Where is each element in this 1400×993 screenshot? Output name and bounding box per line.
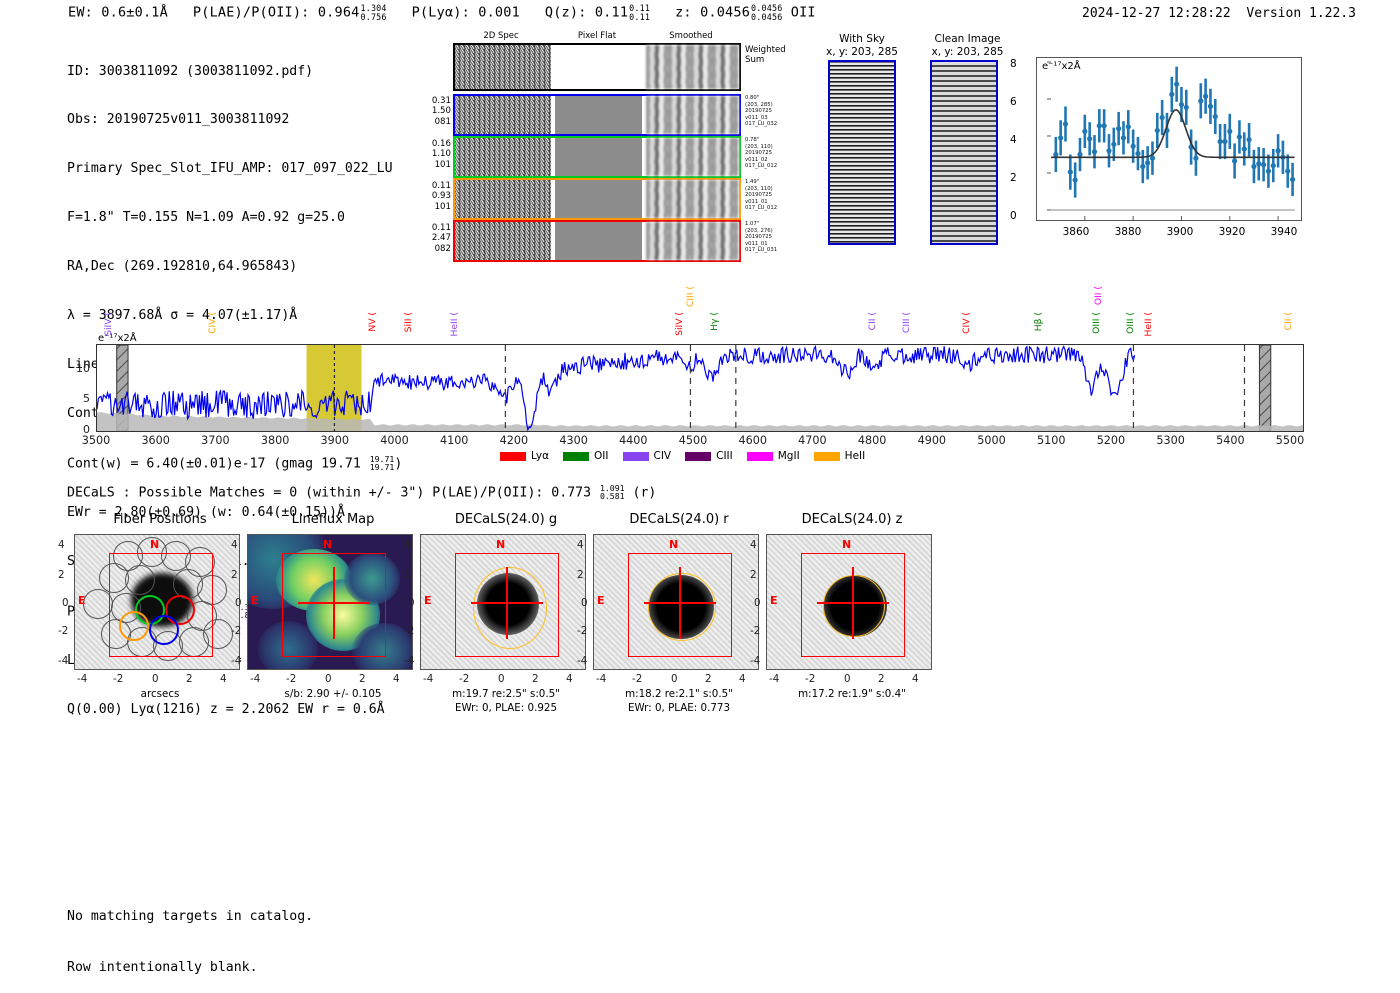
emission-line-label: Hγ (	[709, 312, 720, 331]
legend-swatch	[623, 452, 649, 461]
center-crosshair-v	[333, 567, 335, 639]
panel-title: Lineflux Map	[233, 512, 433, 527]
emission-line-label: CIV (	[207, 312, 218, 334]
spectrum-xtick: 5400	[1208, 434, 1252, 447]
column-title-pixelflat: Pixel Flat	[553, 31, 641, 41]
panel-caption-1: m:19.7 re:2.5" s:0.5"	[406, 688, 606, 701]
weighted-sum-2dspec	[455, 45, 551, 89]
spectrum-xtick: 4600	[731, 434, 775, 447]
xtick: 0	[498, 673, 505, 685]
exposure-2-meta: 0.78" (203, 110) 20190725 v011_02 017_LU…	[745, 137, 789, 170]
summary-header-line: EW: 0.6±0.1Å P(LAE)/P(OII): 0.9641.3040.…	[68, 4, 816, 21]
ytick: 0	[581, 597, 588, 609]
decals-header: DECaLS : Possible Matches = 0 (within +/…	[67, 484, 656, 501]
emission-line-label: OII (	[1093, 286, 1104, 305]
header-plae-label: P(LAE)/P(OII):	[193, 5, 310, 21]
fitplot-xtick-3940: 3940	[1264, 226, 1304, 238]
ytick: 4	[577, 539, 584, 551]
exposure-1-pixelflat	[555, 96, 641, 134]
weighted-sum-smoothed	[646, 45, 739, 89]
decals-z-image[interactable]	[766, 534, 932, 670]
emission-line-label: HeII (	[449, 312, 460, 337]
spectrum-xtick: 3600	[134, 434, 178, 447]
panel-xlabel: arcsecs	[60, 688, 260, 701]
spectrum-xtick: 4900	[910, 434, 954, 447]
xtick: 0	[325, 673, 332, 685]
legend-item: CIV	[623, 450, 672, 462]
row-left-numbers: 0.31 1.50 081	[417, 96, 451, 127]
decals-g-image[interactable]	[420, 534, 586, 670]
ytick: 0	[754, 597, 761, 609]
info-line-fwhm: F=1.8" T=0.155 N=1.09 A=0.92 g=25.0	[67, 210, 402, 226]
shot-box	[109, 553, 213, 657]
xtick: -4	[423, 673, 433, 685]
spectrum-xtick: 3900	[313, 434, 357, 447]
info-contw-post: )	[394, 456, 402, 471]
emission-line-label: CIII (	[685, 286, 696, 307]
header-qz-label: Q(z):	[545, 5, 587, 21]
exposure-row-4	[453, 220, 741, 262]
ytick: 2	[404, 569, 411, 581]
legend-item: HeII	[814, 450, 866, 462]
xtick: 0	[152, 673, 159, 685]
spectrum-xtick: 3800	[253, 434, 297, 447]
legend-swatch	[814, 452, 840, 461]
ytick: -2	[404, 625, 414, 637]
legend-swatch	[563, 452, 589, 461]
row-left-numbers: 0.11 0.93 101	[417, 181, 451, 212]
spectrum-legend: LyαOIICIVCIIIMgIIHeII	[500, 450, 865, 462]
panel-lineflux-map: Lineflux Map N E 4 2 0 -2 -4 -4 -2 0 2 4…	[233, 512, 433, 712]
emission-line-label: Hβ (	[1033, 312, 1044, 331]
full-spectrum-plot	[96, 344, 1304, 432]
fitplot-xtick-3880: 3880	[1108, 226, 1148, 238]
ytick: 4	[231, 539, 238, 551]
xtick: -4	[250, 673, 260, 685]
legend-item: CIII	[685, 450, 733, 462]
ytick: 4	[404, 539, 411, 551]
info-contw-lo: 19.71	[370, 463, 395, 471]
info-line-primary: Primary Spec_Slot_IFU_AMP: 017_097_022_L…	[67, 161, 402, 177]
exposure-3-2dspec	[455, 180, 551, 218]
ytick: 4	[58, 539, 65, 551]
compass-north: N	[150, 538, 159, 551]
decals-header-lo: 0.581	[600, 492, 625, 500]
fitplot-xtick-3920: 3920	[1212, 226, 1252, 238]
header-z-species: OII	[791, 5, 816, 21]
spectrum-xtick: 4700	[790, 434, 834, 447]
exposure-4-meta: 1.07" (203, 276) 20190725 v011_01 017_LU…	[745, 221, 789, 254]
exposure-4-smoothed	[646, 222, 739, 260]
spectrum-xtick: 5500	[1268, 434, 1312, 447]
header-qz-value: 0.11	[595, 5, 628, 21]
xtick: -2	[805, 673, 815, 685]
header-qz-lo: 0.11	[629, 13, 650, 22]
emission-line-fit-plot: e⁻¹⁷x2Å	[1036, 57, 1302, 221]
xtick: 2	[359, 673, 366, 685]
ytick: -2	[750, 625, 760, 637]
xtick: -2	[286, 673, 296, 685]
info-line-id: ID: 3003811092 (3003811092.pdf)	[67, 64, 402, 80]
spectrum-xtick: 4800	[850, 434, 894, 447]
panel-title: DECaLS(24.0) r	[579, 512, 779, 527]
legend-item: Lyα	[500, 450, 549, 462]
legend-swatch	[685, 452, 711, 461]
legend-label: HeII	[845, 450, 866, 462]
emission-line-label: SiIV (	[103, 312, 114, 336]
exposure-4-2dspec	[455, 222, 551, 260]
info-line-obs: Obs: 20190725v011_3003811092	[67, 112, 402, 128]
xtick: -4	[769, 673, 779, 685]
row-left-numbers: 0.16 1.10 101	[417, 139, 451, 170]
panel-title: Fiber Positions	[60, 512, 260, 527]
header-z-lo: 0.0456	[751, 13, 782, 22]
legend-item: OII	[563, 450, 608, 462]
fitplot-ytick-8: 8	[1010, 58, 1017, 70]
spectrum-xtick: 3700	[193, 434, 237, 447]
xtick: 4	[739, 673, 746, 685]
compass-east: E	[251, 594, 259, 607]
ytick: 2	[58, 569, 65, 581]
fitplot-ytick-4: 4	[1010, 134, 1017, 146]
fitplot-ytick-6: 6	[1010, 96, 1017, 108]
ytick: 0	[408, 597, 415, 609]
legend-swatch	[747, 452, 773, 461]
header-plae-lo: 0.756	[360, 13, 386, 22]
fitplot-canvas	[1037, 58, 1301, 220]
two-d-spectrum-panel: 2D Spec Pixel Flat Smoothed Weighted Sum…	[425, 31, 790, 259]
xtick: 0	[671, 673, 678, 685]
xtick: -4	[596, 673, 606, 685]
header-meta: 2024-12-27 12:28:22 Version 1.22.3	[1082, 6, 1356, 21]
decals-header-pre: DECaLS : Possible Matches = 0 (within +/…	[67, 485, 599, 500]
xtick: 2	[878, 673, 885, 685]
spectrum-xtick: 4300	[552, 434, 596, 447]
spectrum-xtick: 3500	[74, 434, 118, 447]
emission-line-label: OIII (	[1091, 312, 1102, 334]
ytick: 0	[235, 597, 242, 609]
compass-north: N	[669, 538, 678, 551]
legend-label: OII	[594, 450, 608, 462]
exposure-3-meta: 1.49" (203, 110) 20190725 v011_01 017_LU…	[745, 179, 789, 212]
panel-title: DECaLS(24.0) z	[752, 512, 952, 527]
weighted-sum-pixelflat	[555, 45, 641, 89]
compass-east: E	[770, 594, 778, 607]
footer-note: No matching targets in catalog. Row inte…	[67, 874, 313, 993]
panel-caption-1: m:18.2 re:2.1" s:0.5"	[579, 688, 779, 701]
center-crosshair-v	[852, 567, 854, 639]
ytick: -2	[58, 625, 68, 637]
xtick: 4	[566, 673, 573, 685]
center-crosshair-v	[679, 567, 681, 639]
ytick: -4	[58, 655, 68, 667]
lineflux-map-image[interactable]	[247, 534, 413, 670]
exposure-4-pixelflat	[555, 222, 641, 260]
with-sky-title: With Sky x, y: 203, 285	[812, 33, 912, 58]
xtick: 4	[912, 673, 919, 685]
exposure-row-3	[453, 178, 741, 220]
exposure-row-2	[453, 136, 741, 178]
effective-radius-ellipse	[473, 567, 547, 649]
info-contw-pre: Cont(w) = 6.40(±0.01)e-17 (gmag 19.71	[67, 456, 369, 471]
spectrum-ytick: 5	[64, 392, 90, 405]
exposure-2-pixelflat	[555, 138, 641, 176]
emission-line-label: CIV (	[961, 312, 972, 334]
legend-label: MgII	[778, 450, 800, 462]
ytick: -4	[404, 655, 414, 667]
exposure-2-smoothed	[646, 138, 739, 176]
ytick: -2	[231, 625, 241, 637]
legend-label: Lyα	[531, 450, 549, 462]
legend-label: CIV	[654, 450, 672, 462]
panel-caption-2: EWr: 0, PLAE: 0.773	[579, 702, 779, 715]
clean-image-title: Clean Image x, y: 203, 285	[915, 33, 1020, 58]
emission-line-label: CII (	[867, 312, 878, 330]
emission-line-label: OIII (	[1125, 312, 1136, 334]
xtick: -2	[459, 673, 469, 685]
info-line-lambda: λ = 3897.68Å σ = 4.07(±1.17)Å	[67, 308, 402, 324]
row-left-numbers: 0.11 2.47 082	[417, 223, 451, 254]
footer-line-2: Row intentionally blank.	[67, 959, 313, 976]
emission-line-label: CII (	[1283, 312, 1294, 330]
spectrum-xtick: 4200	[492, 434, 536, 447]
panel-decals-g: DECaLS(24.0) g N E 4 2 0 -2 -4 -4 -2 0 2…	[406, 512, 606, 724]
decals-header-post: (r)	[625, 485, 657, 500]
exposure-row-1	[453, 94, 741, 136]
ytick: 4	[750, 539, 757, 551]
emission-line-label: SiIV (	[674, 312, 685, 336]
panel-decals-r: DECaLS(24.0) r N E 4 2 0 -2 -4 -4 -2 0 2…	[579, 512, 779, 724]
decals-r-image[interactable]	[593, 534, 759, 670]
xtick: 2	[532, 673, 539, 685]
xtick: 2	[705, 673, 712, 685]
compass-east: E	[424, 594, 432, 607]
panel-caption-1: m:17.2 re:1.9" s:0.4"	[752, 688, 952, 701]
compass-north: N	[323, 538, 332, 551]
column-title-smoothed: Smoothed	[643, 31, 739, 41]
header-ew: EW: 0.6±0.1Å	[68, 5, 168, 21]
fitplot-xtick-3860: 3860	[1056, 226, 1096, 238]
spectrum-xtick: 5300	[1149, 434, 1193, 447]
exposure-1-smoothed	[646, 96, 739, 134]
effective-radius-ellipse	[648, 573, 716, 641]
ytick: 2	[750, 569, 757, 581]
column-title-2dspec: 2D Spec	[453, 31, 549, 41]
spectrum-xtick: 4000	[373, 434, 417, 447]
header-datetime: 2024-12-27 12:28:22	[1082, 6, 1231, 21]
fitplot-ytick-2: 2	[1010, 172, 1017, 184]
spectrum-xtick: 5000	[970, 434, 1014, 447]
weighted-sum-label: Weighted Sum	[745, 45, 786, 65]
header-plae-value: 0.964	[318, 5, 360, 21]
xtick: -4	[77, 673, 87, 685]
exposure-1-2dspec	[455, 96, 551, 134]
spectrum-xtick: 4100	[432, 434, 476, 447]
ytick: 2	[577, 569, 584, 581]
fiber-positions-image[interactable]	[74, 534, 240, 670]
header-z-label: z:	[675, 5, 692, 21]
emission-line-label: HeII (	[1143, 312, 1154, 337]
spectrum-xtick: 4500	[671, 434, 715, 447]
info-line-contw: Cont(w) = 6.40(±0.01)e-17 (gmag 19.71 19…	[67, 455, 402, 473]
header-z-value: 0.0456	[700, 5, 750, 21]
ytick: -4	[577, 655, 587, 667]
info-line-radec: RA,Dec (269.192810,64.965843)	[67, 259, 402, 275]
xtick: 4	[393, 673, 400, 685]
ytick: 0	[62, 597, 69, 609]
clean-image-cutout	[930, 60, 998, 245]
compass-north: N	[842, 538, 851, 551]
exposure-2-2dspec	[455, 138, 551, 176]
emission-line-label: NV (	[367, 312, 378, 332]
emission-line-label: SiII (	[403, 312, 414, 332]
footer-line-1: No matching targets in catalog.	[67, 908, 313, 925]
spectrum-xtick: 5200	[1089, 434, 1133, 447]
panel-caption-2: EWr: 0, PLAE: 0.925	[406, 702, 606, 715]
compass-east: E	[78, 594, 86, 607]
legend-label: CIII	[716, 450, 733, 462]
panel-title: DECaLS(24.0) g	[406, 512, 606, 527]
center-crosshair-v	[506, 567, 508, 639]
weighted-sum-row	[453, 43, 741, 91]
compass-north: N	[496, 538, 505, 551]
xtick: 4	[220, 673, 227, 685]
emission-line-label: CIII (	[901, 312, 912, 333]
spectrum-xtick: 5100	[1029, 434, 1073, 447]
legend-swatch	[500, 452, 526, 461]
fitplot-xtick-3900: 3900	[1160, 226, 1200, 238]
panel-fiber-positions: Fiber Positions N E 4 2 0 -2 -4 -4 -2 0 …	[60, 512, 260, 712]
exposure-3-smoothed	[646, 180, 739, 218]
header-version: Version 1.22.3	[1246, 6, 1356, 21]
spectrum-canvas	[97, 345, 1303, 431]
panel-decals-z: DECaLS(24.0) z N E 4 2 0 -2 -4 -4 -2 0 2…	[752, 512, 952, 724]
fitplot-ytick-0: 0	[1010, 210, 1017, 222]
ytick: -4	[231, 655, 241, 667]
ytick: -4	[750, 655, 760, 667]
xtick: -2	[632, 673, 642, 685]
compass-east: E	[597, 594, 605, 607]
xtick: -2	[113, 673, 123, 685]
exposure-1-meta: 0.80" (203, 285) 20190725 v011_03 017_LU…	[745, 95, 789, 128]
exposure-3-pixelflat	[555, 180, 641, 218]
ytick: -2	[577, 625, 587, 637]
xtick: 0	[844, 673, 851, 685]
ytick: 2	[231, 569, 238, 581]
with-sky-cutout	[828, 60, 896, 245]
legend-item: MgII	[747, 450, 800, 462]
panel-caption-1: s/b: 2.90 +/- 0.105	[233, 688, 433, 701]
xtick: 2	[186, 673, 193, 685]
effective-radius-ellipse	[823, 575, 885, 637]
spectrum-xtick: 4400	[611, 434, 655, 447]
header-plya: P(Lyα): 0.001	[412, 5, 520, 21]
spectrum-ytick: 10	[64, 362, 90, 375]
